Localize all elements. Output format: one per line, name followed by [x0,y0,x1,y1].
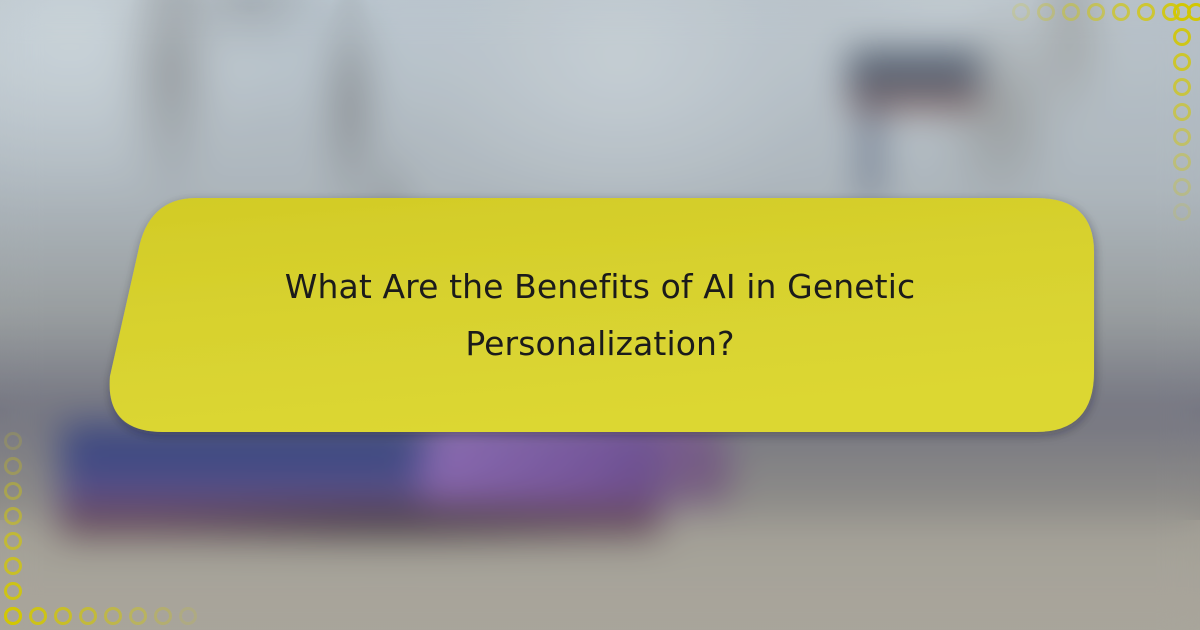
title-card: What Are the Benefits of AI in Genetic P… [0,0,1200,630]
screenshot-canvas: What Are the Benefits of AI in Genetic P… [0,0,1200,630]
card-title: What Are the Benefits of AI in Genetic P… [150,258,1050,372]
